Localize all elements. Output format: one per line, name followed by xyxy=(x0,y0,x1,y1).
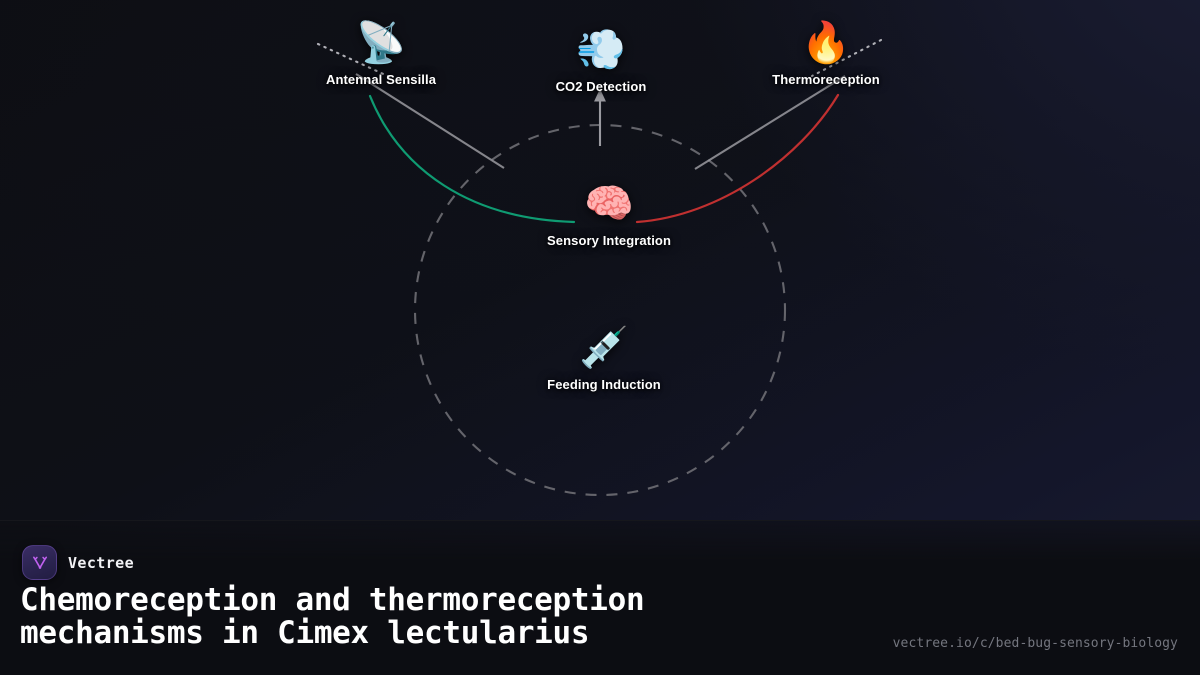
page-title-line-2: mechanisms in Cimex lectularius xyxy=(20,617,820,650)
brand-name: Vectree xyxy=(68,554,134,572)
node-label-antennal-sensilla: Antennal Sensilla xyxy=(326,72,436,87)
antennal-to-integration-edge xyxy=(370,96,574,222)
source-url: vectree.io/c/bed-bug-sensory-biology xyxy=(893,636,1178,651)
page-title-line-1: Chemoreception and thermoreception xyxy=(20,582,644,618)
link-right-gray-edge xyxy=(695,76,845,169)
node-thermoreception[interactable]: 🔥 Thermoreception xyxy=(772,23,880,87)
page-title: Chemoreception and thermoreception mecha… xyxy=(20,584,820,649)
node-label-feeding-induction: Feeding Induction xyxy=(547,377,661,392)
brand-block[interactable]: Vectree xyxy=(22,545,134,580)
node-feeding-induction[interactable]: 💉 Feeding Induction xyxy=(547,328,661,392)
node-label-sensory-integration: Sensory Integration xyxy=(547,233,671,248)
node-label-co2-detection: CO2 Detection xyxy=(556,79,647,94)
node-antennal-sensilla[interactable]: 📡 Antennal Sensilla xyxy=(326,23,436,87)
link-left-gray-edge xyxy=(356,74,504,168)
fire-icon: 🔥 xyxy=(801,23,851,63)
node-label-thermoreception: Thermoreception xyxy=(772,72,880,87)
footer-bar: Vectree Chemoreception and thermorecepti… xyxy=(0,520,1200,675)
brain-icon: 🧠 xyxy=(584,184,634,224)
node-sensory-integration[interactable]: 🧠 Sensory Integration xyxy=(547,184,671,248)
syringe-icon: 💉 xyxy=(579,328,629,368)
vectree-v-tree-icon xyxy=(22,545,57,580)
node-co2-detection[interactable]: 💨 CO2 Detection xyxy=(556,30,647,94)
boundary-circle xyxy=(415,125,785,495)
satellite-dish-icon: 📡 xyxy=(356,23,406,63)
wind-dash-icon: 💨 xyxy=(576,30,626,70)
